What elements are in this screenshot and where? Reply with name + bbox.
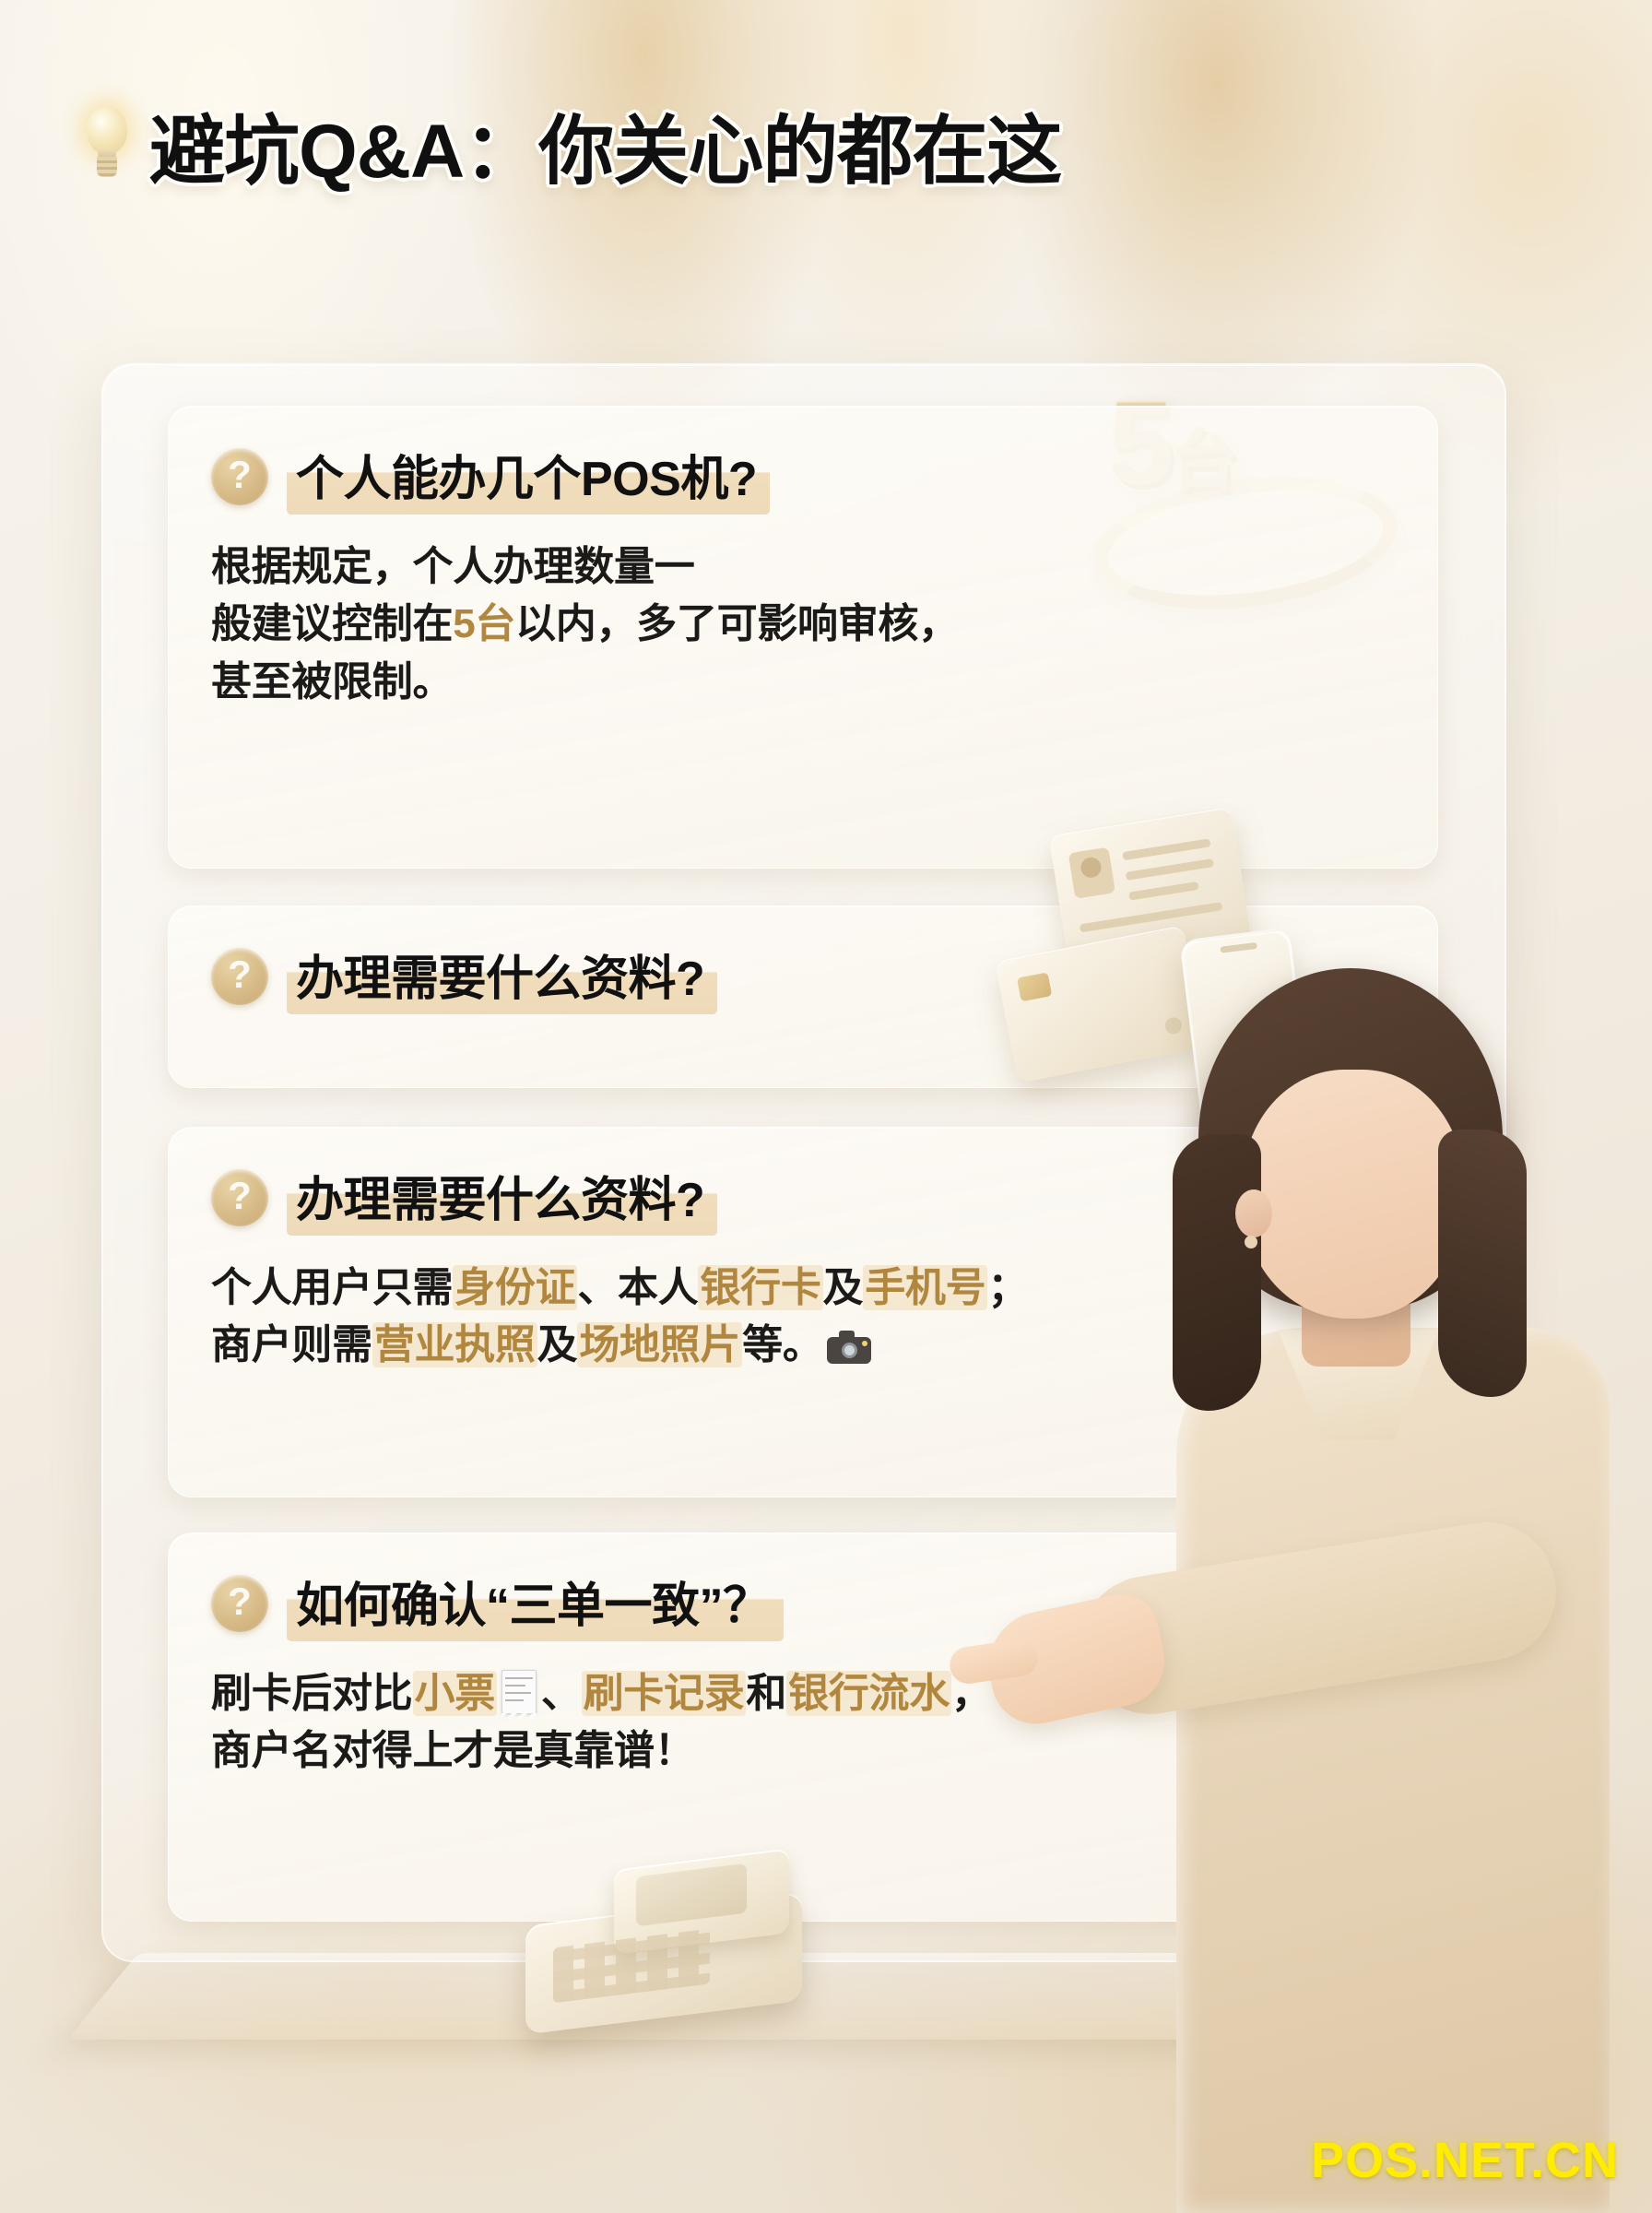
qa3-l2e: 等。 <box>742 1322 822 1367</box>
pos-terminal-prop <box>525 1853 848 2029</box>
qa3-highlight-bankcard: 银行卡 <box>698 1265 822 1310</box>
character-face <box>1243 1070 1464 1319</box>
qa-card-1-title: 个人能办几个POS机? <box>287 438 770 515</box>
qa4-l1a: 刷卡后对比 <box>211 1671 413 1716</box>
qa3-l2c: 及 <box>537 1322 578 1367</box>
question-badge-label: ? <box>228 1582 252 1621</box>
qa1-line1: 根据规定，个人办理数量一 <box>211 544 694 589</box>
qa4-l1c: 、 <box>541 1671 582 1716</box>
qa-card-3-title: 办理需要什么资料? <box>287 1159 717 1236</box>
qa3-l1c: 、本人 <box>577 1265 698 1310</box>
qa4-l2: 商户名对得上才是真靠谱！ <box>211 1728 694 1773</box>
character-earring <box>1245 1236 1257 1249</box>
camera-icon <box>827 1331 871 1364</box>
qa-card-1-header: ? 个人能办几个POS机? <box>169 407 1437 515</box>
question-badge-label: ? <box>228 456 252 494</box>
site-watermark: POS.NET.CN <box>1311 2132 1619 2189</box>
qa-card-4-title: 如何确认“三单一致”？ <box>287 1565 784 1641</box>
page-title: 避坑Q&A：你关心的都在这 <box>149 89 1061 199</box>
character-body <box>1176 1328 1610 2213</box>
question-badge-label: ? <box>228 955 252 994</box>
character-hair-left <box>1173 1134 1261 1411</box>
qa-card-2-title: 办理需要什么资料? <box>287 938 717 1014</box>
receipt-icon <box>501 1670 537 1714</box>
qa3-l2a: 商户则需 <box>211 1322 372 1367</box>
qa1-line2a: 般建议控制在 <box>211 601 453 646</box>
question-mark-icon: ? <box>211 448 268 505</box>
question-mark-icon: ? <box>211 948 268 1005</box>
lightbulb-icon <box>81 104 133 183</box>
qa3-highlight-license: 营业执照 <box>372 1322 537 1367</box>
qa1-highlight-5tai: 5台 <box>453 601 515 646</box>
qa3-l1e: 及 <box>823 1265 864 1310</box>
qa-card-1[interactable]: ? 个人能办几个POS机? 根据规定，个人办理数量一 般建议控制在5台以内，多了… <box>168 406 1438 869</box>
qa4-highlight-bankflow: 银行流水 <box>786 1671 951 1716</box>
question-mark-icon: ? <box>211 1575 268 1632</box>
qa3-highlight-id: 身份证 <box>453 1265 577 1310</box>
character-ear <box>1235 1189 1272 1237</box>
page-header: 避坑Q&A：你关心的都在这 <box>81 89 1095 199</box>
qa3-l1a: 个人用户只需 <box>211 1265 453 1310</box>
character-hair-right <box>1438 1130 1527 1397</box>
qa1-line3: 甚至被限制。 <box>211 659 453 704</box>
question-badge-label: ? <box>228 1177 252 1215</box>
qa1-line2c: 以内，多了可影响审核， <box>515 601 959 646</box>
character-illustration <box>1088 959 1652 2213</box>
qa3-highlight-photos: 场地照片 <box>577 1322 742 1367</box>
qa4-highlight-records: 刷卡记录 <box>582 1671 747 1716</box>
qa3-highlight-phone: 手机号 <box>863 1265 987 1310</box>
qa-card-1-body: 根据规定，个人办理数量一 般建议控制在5台以内，多了可影响审核， 甚至被限制。 <box>169 515 1437 711</box>
qa3-l1g: ； <box>987 1265 1028 1310</box>
qa4-highlight-receipt: 小票 <box>413 1671 497 1716</box>
question-mark-icon: ? <box>211 1169 268 1226</box>
qa4-l1e: 和 <box>746 1671 786 1716</box>
